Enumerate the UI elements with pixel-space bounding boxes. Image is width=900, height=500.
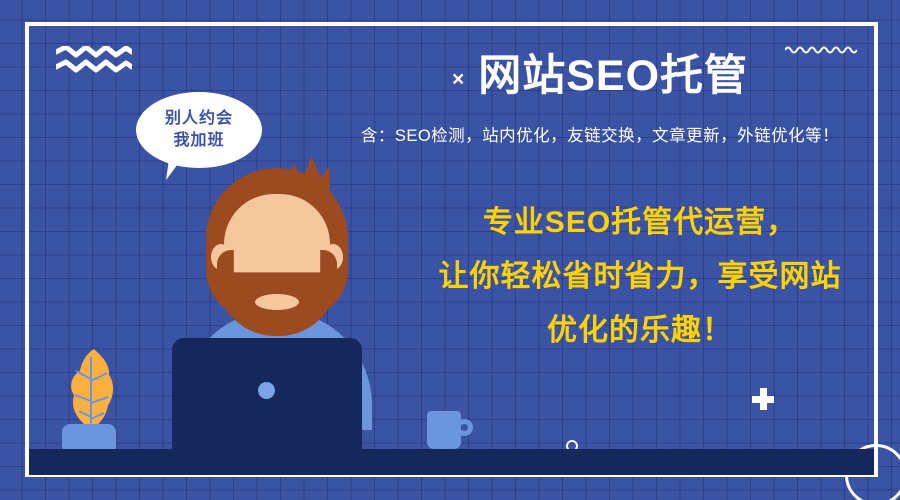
wave-left-icon [56,46,132,74]
plus-mark-icon [752,388,774,410]
character-mouth [255,294,299,310]
laptop-logo-icon [258,382,275,399]
character-hair-tuft [286,156,330,190]
desk-surface [29,449,874,475]
mug-handle [456,419,473,436]
headline-line-1: 专业SEO托管代运营， [410,196,870,250]
times-glyph-icon: × [452,69,464,90]
subtitle-text: 含：SEO检测，站内优化，友链交换，文章更新，外链优化等！ [340,122,860,146]
headline-line-2: 让你轻松省时省力，享受网站 [410,250,870,304]
plant-pot [62,424,116,451]
seo-hosting-banner: × 网站SEO托管 含：SEO检测，站内优化，友链交换，文章更新，外链优化等！ … [0,0,900,500]
headline-block: 专业SEO托管代运营， 让你轻松省时省力，享受网站 优化的乐趣！ [410,196,870,358]
page-title: 网站SEO托管 [478,55,748,98]
frame-left-border [25,22,29,477]
plant-leaf-icon [66,349,116,429]
headline-line-3: 优化的乐趣！ [410,304,870,358]
frame-top-border [25,22,878,26]
speech-bubble-line-1: 别人约会 [165,108,233,130]
frame-right-border [874,22,878,477]
speech-bubble-line-2: 我加班 [173,130,224,152]
title-row: × 网站SEO托管 [340,48,860,104]
